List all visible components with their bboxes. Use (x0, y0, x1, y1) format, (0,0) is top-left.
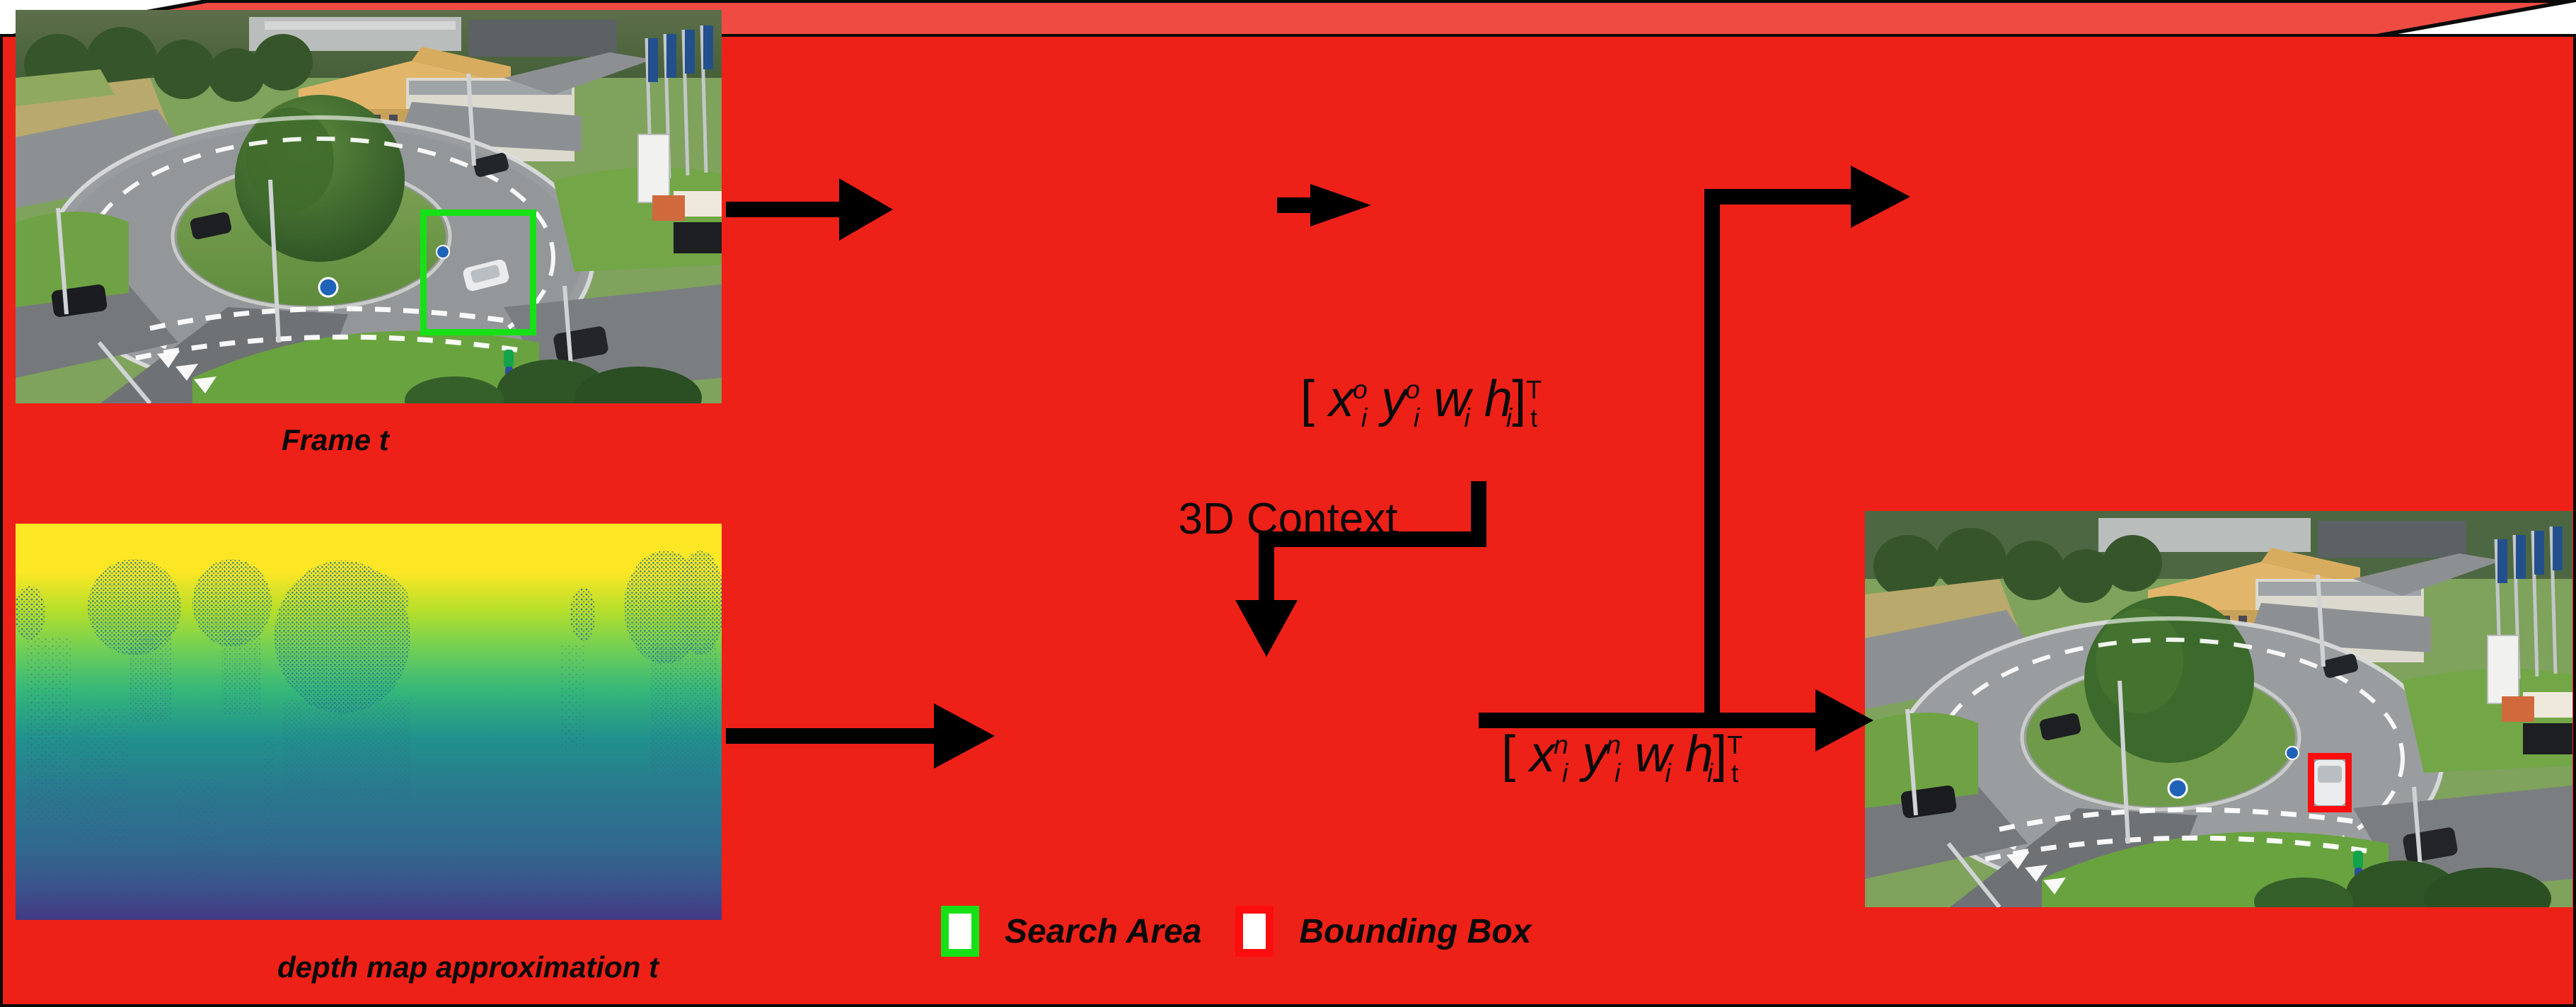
tracker-state-formula: [ xoi yoi wi hi]Tt (1300, 374, 1537, 432)
aerial-roundabout-frame (16, 10, 722, 403)
bracket-open: [ (1501, 726, 1515, 783)
legend-label-search-area: Search Area (1005, 912, 1201, 951)
bracket-close: ] (1512, 371, 1526, 427)
depth-map-caption: depth map approximation t (277, 950, 659, 984)
formula-y-subscript: i (1414, 403, 1419, 432)
depth-map-image (16, 524, 722, 920)
formula-x-subscript: i (1361, 403, 1367, 432)
output-result-image (1865, 511, 2572, 907)
legend-label-bounding-box: Bounding Box (1299, 912, 1531, 951)
formula-time-index: t (1530, 403, 1537, 432)
legend: Search Area Bounding Box (941, 906, 1531, 957)
aerial-roundabout-result (1865, 511, 2572, 907)
formula-h-subscript: i (1707, 758, 1713, 788)
formula-y-superscript: o (1405, 374, 1420, 404)
bounding-box (2308, 753, 2352, 812)
formula-x: x (1329, 371, 1354, 427)
formula-x-superscript: n (1554, 730, 1569, 759)
legend-swatch-bounding-box (1235, 906, 1273, 957)
legend-swatch-search-area (941, 906, 979, 957)
formula-time-index: t (1731, 759, 1738, 788)
3d-context-box-label: 3D Context (1178, 494, 1397, 544)
formula-h-subscript: i (1506, 403, 1512, 432)
frame-t-image (16, 10, 722, 403)
formula-x: x (1530, 726, 1555, 783)
search-area-box (420, 209, 536, 335)
formula-transpose: T (1526, 375, 1542, 404)
formula-y: y (1582, 726, 1607, 783)
frame-t-caption: Frame t (282, 423, 389, 457)
formula-y-subscript: i (1615, 758, 1620, 788)
bracket-open: [ (1300, 371, 1315, 427)
formula-w-subscript: i (1464, 403, 1469, 432)
formula-transpose: T (1727, 730, 1743, 759)
formula-y: y (1381, 371, 1407, 427)
context-state-formula: [ xni yni wi hi]Tt (1501, 729, 1738, 787)
formula-y-superscript: n (1606, 730, 1621, 759)
formula-x-subscript: i (1562, 758, 1568, 788)
bracket-close: ] (1713, 726, 1727, 783)
formula-x-superscript: o (1353, 374, 1368, 404)
viridis-depth-map (16, 524, 722, 920)
formula-w-subscript: i (1665, 758, 1670, 788)
